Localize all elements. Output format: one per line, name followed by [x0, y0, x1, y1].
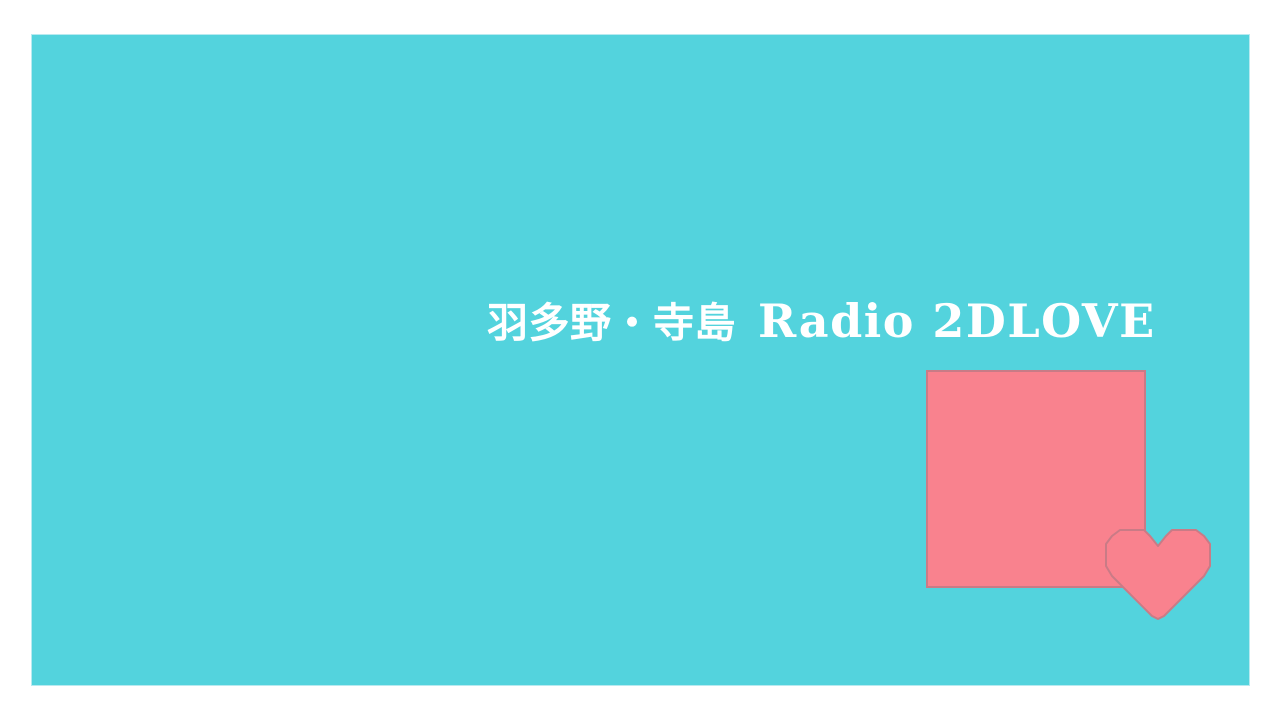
page-title: 羽多野・寺島 Radio 2DLOVE	[487, 298, 1156, 356]
slide-canvas: 羽多野・寺島 Radio 2DLOVE	[0, 0, 1280, 720]
heart-icon	[1100, 524, 1216, 624]
title-japanese-text: 羽多野・寺島	[487, 303, 736, 344]
pink-heart-icon	[1100, 524, 1216, 624]
title-latin-text: Radio 2DLOVE	[758, 298, 1156, 344]
